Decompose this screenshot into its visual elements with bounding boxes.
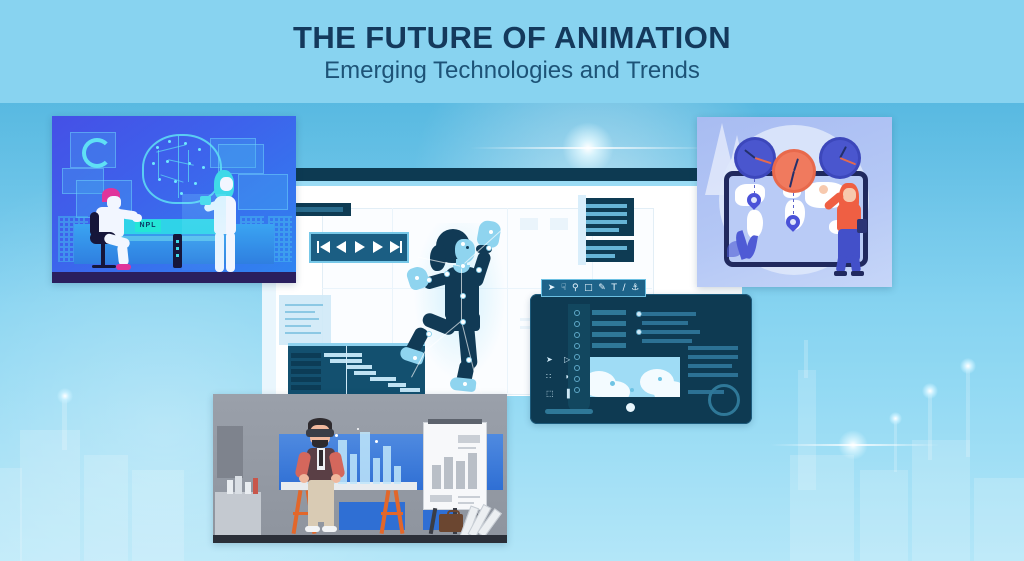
character-hair-tail <box>430 245 446 271</box>
city-spire-glow-right-b <box>960 358 976 374</box>
vr-architect-man <box>299 418 345 534</box>
video-editor-panel[interactable]: ➤ ▷ ∷ ◑ ⬚ ▐ <box>530 294 752 424</box>
editor-timeline-slider[interactable] <box>545 409 593 414</box>
woman-bag <box>857 219 867 233</box>
panel-ai-lab: NPL <box>52 116 296 283</box>
holo-tower <box>383 446 391 484</box>
timeline-track[interactable] <box>291 353 321 358</box>
holo-tower <box>373 458 380 484</box>
chart-text-line-3 <box>458 502 474 504</box>
ai-ring-icon <box>82 138 112 168</box>
contrast-icon[interactable]: ◑ <box>564 373 569 381</box>
menu-row[interactable] <box>583 220 627 224</box>
brain-node <box>198 148 201 151</box>
timeline-track[interactable] <box>291 377 321 382</box>
editor-jog-dial[interactable] <box>708 384 740 416</box>
layer-bullet[interactable] <box>574 354 580 360</box>
city-spire-glow-right-c <box>889 412 902 425</box>
editor-playhead-knob[interactable] <box>626 403 635 412</box>
chart-bar <box>456 461 465 489</box>
infographic-canvas: ➤ ☟ ⚲ □ ✎ T ∕ ⚓ <box>0 0 1024 561</box>
workspace-menu-bottom[interactable] <box>578 240 634 262</box>
skip-back-icon[interactable] <box>317 241 330 254</box>
line-icon[interactable]: ∕ <box>622 284 625 293</box>
city-silhouette-right-3 <box>912 440 970 561</box>
playback-controls[interactable] <box>309 232 409 263</box>
landmass-south-america <box>747 210 763 238</box>
ai-floor <box>52 272 296 283</box>
menu-row[interactable] <box>583 228 619 232</box>
page-title: THE FUTURE OF ANIMATION <box>0 20 1024 56</box>
fast-forward-icon[interactable] <box>373 241 386 254</box>
workspace-note-line-2 <box>285 311 315 313</box>
ai-holo-glass <box>182 194 226 270</box>
rig-joint-shoulder-right[interactable] <box>476 267 482 273</box>
city-silhouette-left-4 <box>0 468 22 561</box>
editor-preview-monitor[interactable] <box>590 357 680 397</box>
man-tie <box>319 450 323 466</box>
man-shoe <box>305 526 320 532</box>
cloud-speck <box>658 377 662 381</box>
man-leg <box>308 506 318 528</box>
clock-center <box>772 149 816 193</box>
city-silhouette-right-tower <box>798 370 816 490</box>
operator-hand <box>132 214 142 222</box>
magnifier-icon[interactable]: ⚲ <box>572 284 579 293</box>
ai-tower-led <box>176 247 179 250</box>
rig-joint-elbow-left[interactable] <box>426 277 432 283</box>
brain-node <box>194 182 197 185</box>
clock-right <box>819 137 861 179</box>
panel-vr-architect <box>213 394 507 543</box>
rig-joint-head[interactable] <box>460 241 466 247</box>
play-icon[interactable] <box>355 241 368 254</box>
editor-text-line <box>642 321 688 325</box>
layer-bullet[interactable] <box>574 332 580 338</box>
timeline-playhead[interactable] <box>346 346 347 394</box>
chart-header-bar <box>428 419 482 424</box>
play-icon[interactable]: ▷ <box>564 356 570 364</box>
workspace-ghost-a <box>520 218 538 230</box>
woman-pointing <box>825 179 871 279</box>
rig-joint-hip[interactable] <box>460 319 466 325</box>
brain-trace <box>158 150 159 178</box>
workspace-note-line-4 <box>285 325 311 327</box>
editor-text-line <box>642 330 700 334</box>
layer-row[interactable] <box>592 343 626 348</box>
holo-tower <box>394 466 401 484</box>
layer-bullet[interactable] <box>574 387 580 393</box>
assistant-face <box>220 177 233 191</box>
holo-spark <box>357 428 359 430</box>
editor-text-line <box>642 339 692 343</box>
workspace-notes-card <box>279 295 331 345</box>
chart-bar <box>432 465 441 489</box>
timeline-keyframe-bar[interactable] <box>354 371 376 375</box>
menu-row[interactable] <box>583 212 627 216</box>
brain-trace <box>188 150 189 182</box>
layer-bullet[interactable] <box>574 310 580 316</box>
operator-shoe <box>116 264 131 270</box>
cursor-icon[interactable]: ➤ <box>548 284 556 293</box>
vr-table-crossbar <box>381 512 403 515</box>
brain-node <box>202 166 205 169</box>
pin-dashline-center <box>793 193 794 215</box>
anchor-icon[interactable]: ⚓ <box>631 284 639 293</box>
editor-text-line <box>688 364 732 368</box>
city-silhouette-right-2 <box>860 470 908 561</box>
lens-flare-streak-center <box>470 147 710 149</box>
city-spire-glow-right-a <box>922 383 938 399</box>
crop-icon[interactable]: ⬚ <box>546 390 554 398</box>
city-silhouette-left-3 <box>132 470 184 561</box>
workspace-note-line-3 <box>285 318 319 320</box>
woman-shoe <box>834 271 847 276</box>
editor-bullet <box>636 311 642 317</box>
pen-icon[interactable]: ✎ <box>598 284 606 293</box>
woman-hand <box>819 185 828 194</box>
editor-bullet <box>636 329 642 335</box>
layer-bullet[interactable] <box>574 321 580 327</box>
layer-bullet[interactable] <box>574 343 580 349</box>
chart-text-block-2 <box>430 495 452 502</box>
timeline-track[interactable] <box>291 369 321 374</box>
chart-text-block <box>458 435 480 443</box>
city-spire-right-a <box>928 390 932 460</box>
vr-headset-icon <box>306 429 334 437</box>
brain-node <box>158 178 161 181</box>
vr-bottle <box>227 480 233 494</box>
workspace-note-line-5 <box>285 332 321 334</box>
holo-spark <box>375 440 378 443</box>
workspace-title-bar <box>262 168 742 181</box>
city-spire-glow-left <box>57 388 73 404</box>
chart-text-line <box>458 447 476 449</box>
ai-tower-led <box>176 240 179 243</box>
rig-joint-knee-left[interactable] <box>426 331 432 337</box>
grid-icon[interactable]: ∷ <box>546 373 551 381</box>
timeline-track[interactable] <box>291 361 321 366</box>
rectangle-icon[interactable]: □ <box>584 284 593 293</box>
timeline-keyframe-bar[interactable] <box>346 365 372 369</box>
chart-bar <box>444 457 453 489</box>
editor-text-line <box>642 312 696 316</box>
ai-tower-led <box>176 254 179 257</box>
cloud-shape <box>600 381 630 397</box>
vr-floor <box>213 535 507 543</box>
layer-row[interactable] <box>592 321 626 326</box>
brain-node <box>168 140 171 143</box>
briefcase-handle <box>447 510 460 517</box>
city-silhouette-left-2 <box>84 455 128 561</box>
lens-flare-streak-low <box>770 444 940 446</box>
vr-bottle-2 <box>235 476 242 494</box>
layer-row[interactable] <box>592 310 626 315</box>
menu-row[interactable] <box>583 246 627 250</box>
hand-icon[interactable]: ☟ <box>561 284 566 293</box>
timeline-keyframe-bar[interactable] <box>324 353 362 357</box>
rig-joint-hand-right[interactable] <box>488 229 494 235</box>
chart-icon[interactable]: ▐ <box>564 390 570 398</box>
layer-bullet[interactable] <box>574 376 580 382</box>
rig-joint-neck[interactable] <box>460 263 466 269</box>
vr-bottle-red <box>253 478 258 494</box>
timeline-keyframe-bar[interactable] <box>370 377 396 381</box>
holo-tower <box>360 432 370 484</box>
city-spire-right-b <box>966 365 970 457</box>
motion-capture-character <box>400 215 520 395</box>
vr-bottle-3 <box>245 482 251 494</box>
workspace-menu-top[interactable] <box>578 198 634 236</box>
rig-joint-hand-left[interactable] <box>414 275 420 281</box>
pin-dashline-left <box>754 179 755 193</box>
man-leg-2 <box>324 506 334 528</box>
layer-bullet[interactable] <box>574 365 580 371</box>
rig-joint-spine[interactable] <box>460 293 466 299</box>
workspace-title-underline <box>262 181 742 186</box>
rig-joint-foot-left[interactable] <box>412 355 418 361</box>
cloud-speck <box>630 388 634 392</box>
brain-node <box>156 146 159 149</box>
cursor-icon[interactable]: ➤ <box>546 356 553 364</box>
man-shoe-2 <box>322 526 337 532</box>
man-beard <box>312 440 328 448</box>
assistant-leg <box>226 232 235 272</box>
menu-row[interactable] <box>583 254 615 258</box>
vr-window-left <box>217 426 243 478</box>
rewind-icon[interactable] <box>336 241 349 254</box>
flip-chart-easel <box>423 422 487 510</box>
editor-toolbar[interactable]: ➤ ☟ ⚲ □ ✎ T ∕ ⚓ <box>541 279 646 297</box>
editor-text-line <box>688 373 738 377</box>
brain-node <box>152 162 155 165</box>
operator-chair-post <box>101 244 105 266</box>
workspace-side-card <box>578 195 586 265</box>
clock-left <box>734 137 776 179</box>
workspace-ghost-b <box>550 218 568 230</box>
character-eye <box>466 246 469 249</box>
workspace-note-line-1 <box>285 304 323 306</box>
operator-chair-back <box>90 212 99 236</box>
city-silhouette-right-4 <box>974 478 1024 561</box>
editor-text-line <box>688 355 738 359</box>
rig-joint-shoulder-left[interactable] <box>444 271 450 277</box>
menu-row[interactable] <box>583 204 627 208</box>
chart-text-line-2 <box>458 496 480 498</box>
city-silhouette-left <box>20 430 80 561</box>
rig-joint-elbow-right[interactable] <box>486 245 492 251</box>
rig-joint-foot-right[interactable] <box>462 381 468 387</box>
chart-bar <box>468 453 477 489</box>
ai-seated-operator <box>90 188 146 272</box>
panel-world-clocks <box>697 117 892 287</box>
vr-cabinet <box>215 492 261 536</box>
ai-wall-screen-right-3 <box>238 174 288 210</box>
woman-shoe-2 <box>851 271 864 276</box>
city-spire-right-d <box>804 340 808 378</box>
header-banner: THE FUTURE OF ANIMATION Emerging Technol… <box>0 0 1024 103</box>
rig-joint-knee-right[interactable] <box>466 357 472 363</box>
timeline-track[interactable] <box>291 385 321 390</box>
text-icon[interactable]: T <box>611 284 617 293</box>
page-subtitle: Emerging Technologies and Trends <box>0 57 1024 85</box>
cloud-speck <box>610 381 615 386</box>
editor-text-line <box>688 346 738 350</box>
layer-row[interactable] <box>592 332 626 337</box>
operator-chair-base <box>92 265 116 268</box>
holo-tower <box>350 454 357 484</box>
woman-face <box>843 188 856 202</box>
